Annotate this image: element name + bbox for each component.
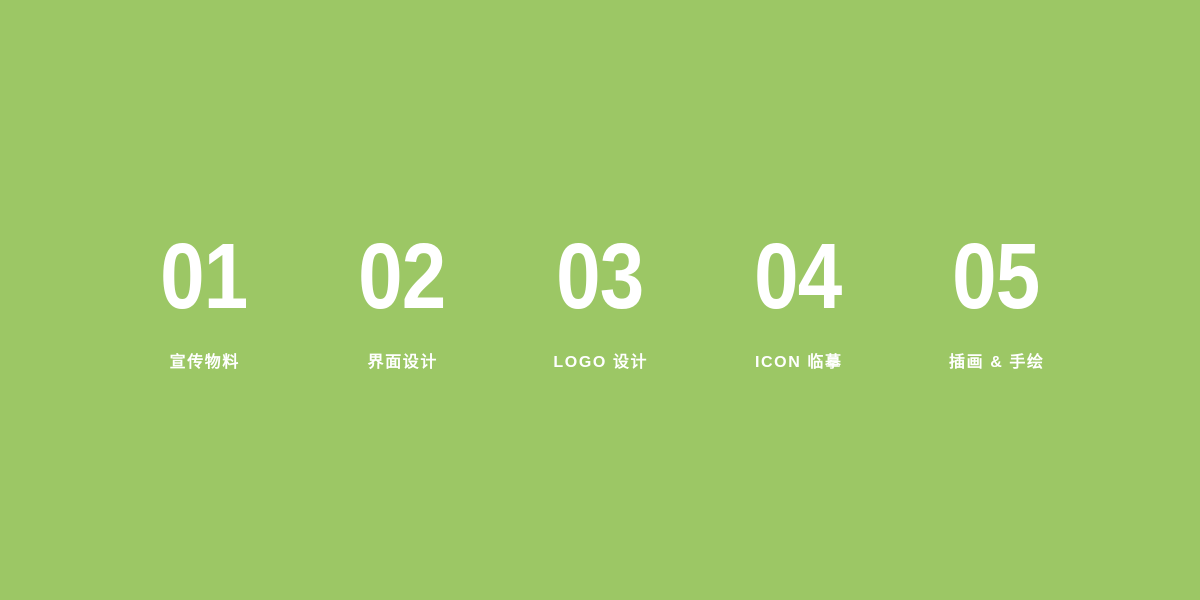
index-label-01: 宣传物料: [168, 353, 240, 372]
index-label-04: ICON 临摹: [753, 353, 842, 372]
index-number-05: 05: [952, 230, 1039, 323]
index-item-03[interactable]: 03 LOGO 设计: [501, 230, 699, 370]
index-number-01: 01: [160, 230, 247, 323]
index-item-01[interactable]: 01 宣传物料: [105, 230, 303, 370]
index-number-04: 04: [754, 230, 841, 323]
index-label-02: 界面设计: [366, 353, 438, 372]
index-slide: 01 宣传物料 02 界面设计 03 LOGO 设计 04 ICON 临摹 05…: [0, 0, 1200, 600]
index-item-04[interactable]: 04 ICON 临摹: [699, 230, 897, 370]
index-item-list: 01 宣传物料 02 界面设计 03 LOGO 设计 04 ICON 临摹 05…: [0, 0, 1200, 600]
index-label-03: LOGO 设计: [552, 353, 648, 372]
index-item-05[interactable]: 05 插画 & 手绘: [897, 230, 1095, 370]
index-number-02: 02: [358, 230, 445, 323]
index-item-02[interactable]: 02 界面设计: [303, 230, 501, 370]
index-number-03: 03: [556, 230, 643, 323]
index-label-05: 插画 & 手绘: [947, 353, 1044, 372]
